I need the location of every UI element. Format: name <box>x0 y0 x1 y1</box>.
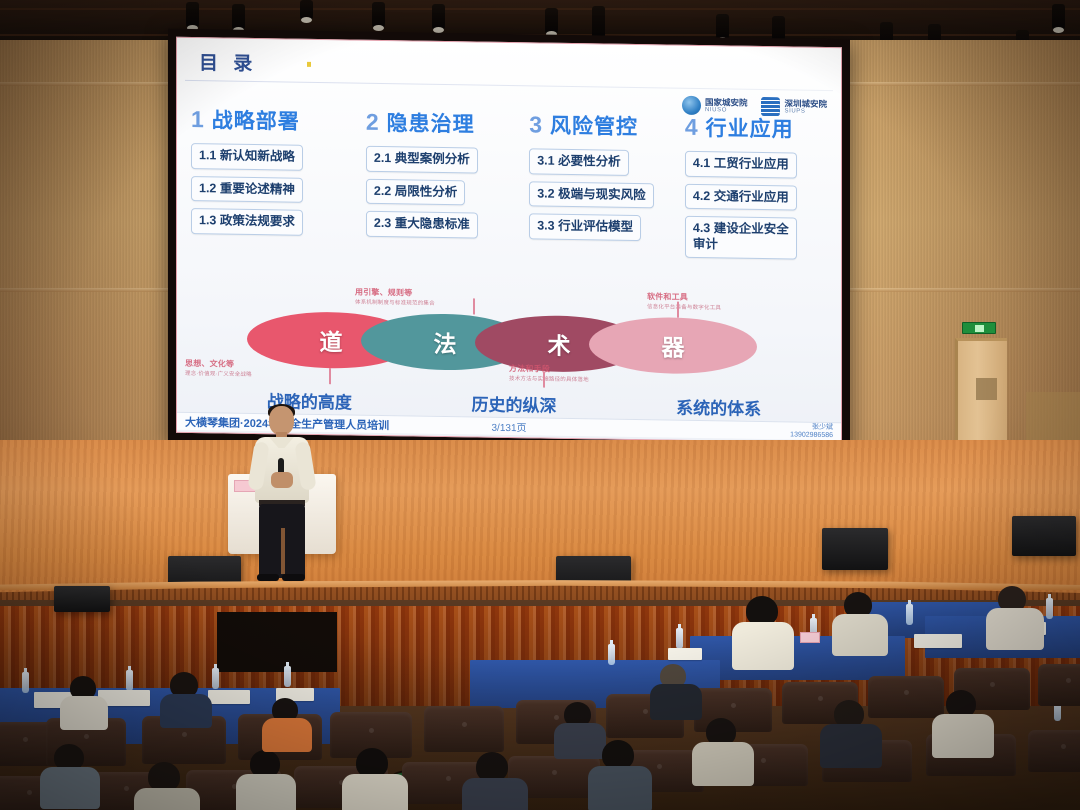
floor-speaker <box>54 586 110 612</box>
agenda-section-3: 3 风险管控 3.1 必要性分析 3.2 极端与现实风险 3.3 行业评估模型 <box>529 109 685 241</box>
venn-annotation-heading: 思想、文化等 <box>185 358 252 371</box>
projection-screen: 目 录 国家城安院 NIUSO 深圳城安院 <box>176 37 842 443</box>
presenter <box>249 406 315 578</box>
title-divider <box>185 80 833 91</box>
water-bottle <box>676 628 683 649</box>
stage-light-icon <box>545 8 558 34</box>
venn-annotation-heading: 用引擎、规则等 <box>355 287 435 300</box>
venn-leader-line <box>473 298 475 314</box>
stage-light-icon <box>372 2 385 28</box>
water-bottle <box>1046 598 1053 619</box>
door-vent <box>976 378 997 400</box>
venn-annotation-detail: 理念·价值观·广义安全战略 <box>185 371 252 378</box>
stage-light-icon <box>186 2 199 28</box>
water-bottle <box>22 672 29 693</box>
stage-light-icon <box>716 14 729 40</box>
water-bottle <box>608 644 615 665</box>
venn-annotation-heading: 软件和工具 <box>647 291 721 304</box>
section-title: 行业应用 <box>706 112 794 143</box>
stage-monitor-speaker <box>1012 516 1076 556</box>
logo-cn-name: 国家城安院 <box>705 98 748 107</box>
footer-presenter-contact: 张少斌 13902986586 <box>790 424 833 439</box>
water-bottle <box>212 668 219 689</box>
venn-annotation-detail: 体系机制制度与标准规范的集合 <box>355 300 435 307</box>
water-bottle <box>284 666 291 687</box>
venn-annotation-4: 软件和工具 信息化平台装备与数字化工具 <box>647 291 721 312</box>
logo-cn-name: 深圳城安院 <box>784 99 827 108</box>
presenter-shoe-left <box>257 574 279 581</box>
venn-annotation-detail: 技术方法与实施路径的具体落地 <box>509 376 589 383</box>
document-paper <box>208 690 250 704</box>
name-card <box>800 632 820 643</box>
wall-access-panel <box>1026 392 1080 440</box>
document-paper <box>914 634 962 648</box>
venn-leader-line <box>543 372 545 388</box>
agenda-item: 1.2 重要论述精神 <box>191 176 303 203</box>
agenda-item: 3.2 极端与现实风险 <box>529 181 653 209</box>
agenda-item: 1.3 政策法规要求 <box>191 208 303 235</box>
stage-light-icon <box>432 4 445 30</box>
agenda-item: 2.3 重大隐患标准 <box>366 211 478 238</box>
venn-annotation-2: 用引擎、规则等 体系机制制度与标准规范的集合 <box>355 287 435 309</box>
auditorium-seat <box>424 706 504 752</box>
auditorium-seat <box>1038 664 1080 706</box>
agenda-section-4: 4 行业应用 4.1 工贸行业应用 4.2 交通行业应用 4.3 建设企业安全审… <box>685 112 829 260</box>
stage-light-icon <box>300 0 313 20</box>
venn-diagram: 道 法 术 器 思想、文化等 理念·价值观·广义安全战略 用引擎、规则等 体系机… <box>247 311 757 375</box>
venn-leader-line <box>677 302 679 318</box>
auditorium-scene: 目 录 国家城安院 NIUSO 深圳城安院 <box>0 0 1080 810</box>
stage-light-icon <box>1052 4 1065 30</box>
agenda-item: 4.3 建设企业安全审计 <box>685 216 797 259</box>
agenda-sections: 1 战略部署 1.1 新认知新战略 1.2 重要论述精神 1.3 政策法规要求 … <box>191 104 829 260</box>
venn-annotation-heading: 方法和手段 <box>509 363 589 376</box>
presenter-head <box>269 406 294 435</box>
presentation-slide: 目 录 国家城安院 NIUSO 深圳城安院 <box>177 38 841 442</box>
water-bottle <box>906 604 913 625</box>
presenter-hands <box>271 472 293 488</box>
agenda-item: 4.2 交通行业应用 <box>685 183 797 210</box>
section-title: 战略部署 <box>212 104 300 135</box>
section-number: 4 <box>685 114 698 141</box>
agenda-item: 4.1 工贸行业应用 <box>685 151 797 178</box>
auditorium-seat <box>868 676 944 718</box>
agenda-section-2: 2 隐患治理 2.1 典型案例分析 2.2 局限性分析 2.3 重大隐患标准 <box>366 107 529 239</box>
venn-ellipse-qi: 器 <box>589 316 757 375</box>
agenda-item: 2.1 典型案例分析 <box>366 146 478 173</box>
agenda-item: 3.3 行业评估模型 <box>529 214 641 241</box>
projection-screen-frame: 目 录 国家城安院 NIUSO 深圳城安院 <box>168 29 850 454</box>
venn-annotation-3: 方法和手段 技术方法与实施路径的具体落地 <box>509 363 589 385</box>
presenter-phone: 13902986586 <box>790 431 833 439</box>
section-number: 3 <box>529 111 542 138</box>
venn-annotation-1: 思想、文化等 理念·价值观·广义安全战略 <box>185 358 252 379</box>
agenda-item: 2.2 局限性分析 <box>366 178 465 205</box>
stage-light-icon <box>232 4 245 30</box>
water-bottle <box>126 670 133 691</box>
presenter-shoe-right <box>282 574 305 581</box>
agenda-item: 3.1 必要性分析 <box>529 148 628 175</box>
section-number: 2 <box>366 109 379 136</box>
venn-annotation-detail: 信息化平台装备与数字化工具 <box>647 304 721 311</box>
slide-title: 目 录 <box>199 48 257 76</box>
section-number: 1 <box>191 106 204 133</box>
auditorium-seat <box>1028 730 1080 772</box>
presenter-leg-gap <box>281 528 285 574</box>
document-paper <box>668 648 702 660</box>
curtain-opening <box>217 612 337 672</box>
section-title: 风险管控 <box>550 110 638 141</box>
laser-pointer-dot <box>307 62 311 67</box>
stage-monitor-speaker <box>822 528 888 570</box>
agenda-section-1: 1 战略部署 1.1 新认知新战略 1.2 重要论述精神 1.3 政策法规要求 <box>191 104 366 237</box>
venn-leader-line <box>329 368 331 384</box>
exit-sign-icon <box>962 322 996 334</box>
agenda-item: 1.1 新认知新战略 <box>191 143 303 170</box>
section-title: 隐患治理 <box>387 107 475 138</box>
